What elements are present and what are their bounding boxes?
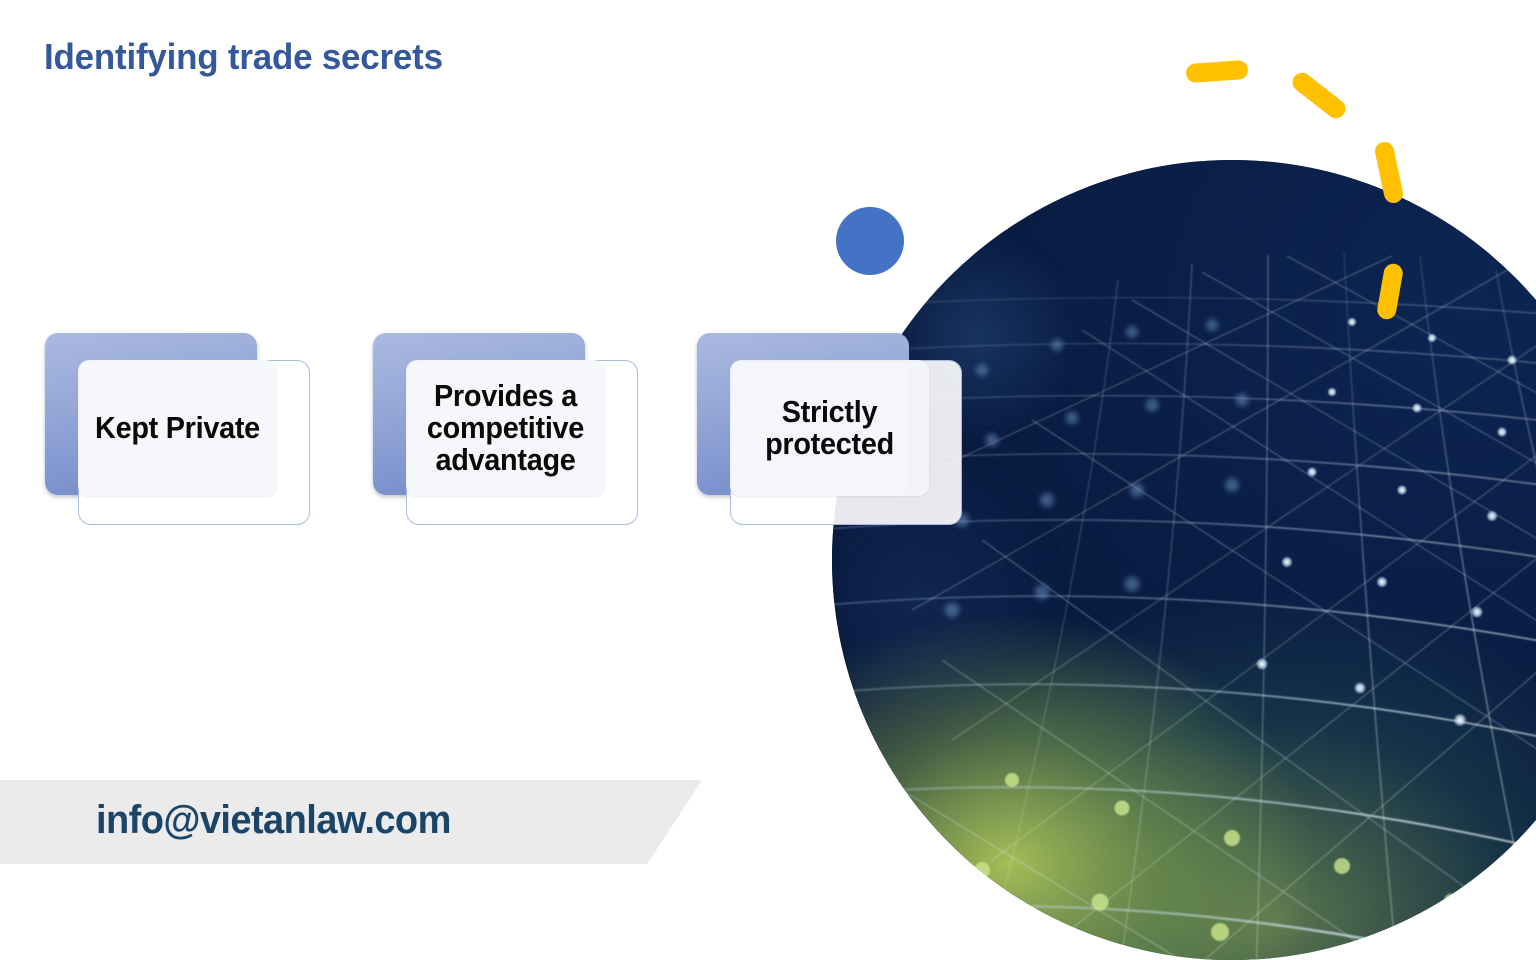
card-label: Kept Private [85,412,270,444]
card-label: Strictly protected [737,396,922,460]
card-inner-panel: Strictly protected [730,360,929,496]
card-inner-panel: Kept Private [78,360,277,496]
yellow-dash-1 [1185,60,1248,83]
network-grid-sphere [832,160,1536,960]
blue-circle-accent [836,207,904,275]
card-inner-panel: Provides a competitive advantage [406,360,605,496]
card-label: Provides a competitive advantage [413,380,598,477]
yellow-dash-2 [1289,69,1350,122]
page-title: Identifying trade secrets [44,36,443,78]
footer-email[interactable]: info@vietanlaw.com [96,798,451,843]
grid-mesh-icon [832,160,1536,960]
